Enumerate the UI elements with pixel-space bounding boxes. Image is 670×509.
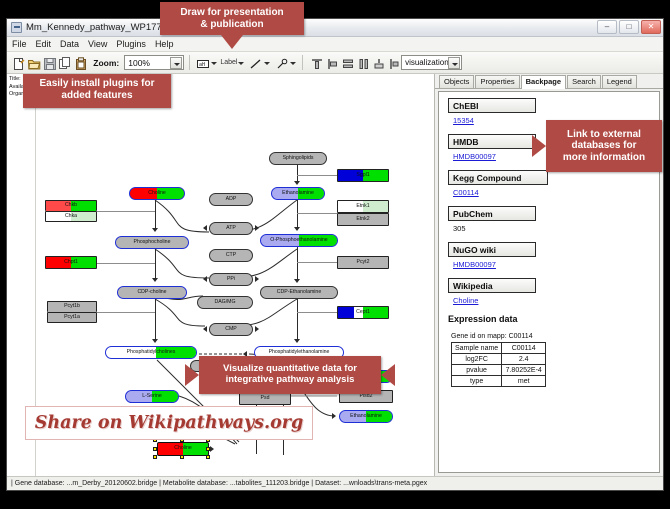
align-top-icon[interactable] bbox=[308, 55, 321, 71]
stack-icon[interactable] bbox=[370, 55, 383, 71]
db-link-wikipedia[interactable]: Choline bbox=[453, 296, 659, 305]
node-atp[interactable]: ATP bbox=[209, 222, 253, 235]
node-cmp[interactable]: CMP bbox=[209, 323, 253, 336]
menu-item-file[interactable]: File bbox=[12, 39, 27, 49]
arrow-icon bbox=[294, 181, 300, 185]
node-label: CDP-Ethanolamine bbox=[277, 290, 321, 295]
db-value-pubchem: 305 bbox=[453, 224, 659, 233]
line-dropdown[interactable] bbox=[247, 55, 271, 71]
chevron-down-icon[interactable] bbox=[210, 55, 218, 71]
gene-id-line: Gene id on mapp: C00114 bbox=[451, 333, 659, 340]
db-header-pubchem: PubChem bbox=[448, 206, 536, 221]
db-header-kegg: Kegg Compound bbox=[448, 170, 548, 185]
node-label: Chpt1 bbox=[64, 260, 78, 265]
toolbar-separator bbox=[189, 55, 190, 70]
application-window: Mm_Kennedy_pathway_WP1771_45176.gpml – □… bbox=[6, 18, 664, 491]
close-button[interactable]: ✕ bbox=[641, 20, 661, 34]
node-label: CDP-choline bbox=[137, 290, 166, 295]
node-label: ATP bbox=[226, 226, 236, 231]
chevron-down-icon[interactable] bbox=[448, 57, 460, 69]
selection-handle[interactable] bbox=[180, 455, 184, 459]
callout-plugins: Easily install plugins for added feature… bbox=[23, 74, 171, 108]
expression-half-down bbox=[338, 307, 354, 318]
node-label: Chka bbox=[65, 214, 77, 219]
node-label: ADP bbox=[226, 197, 237, 202]
gene-chka[interactable]: Chka bbox=[45, 211, 97, 222]
gene-link-line bbox=[297, 175, 337, 176]
table-cell-value: 7.80252E-4 bbox=[502, 365, 546, 376]
table-cell-key: type bbox=[452, 376, 502, 387]
gene-chkb[interactable]: Chkb bbox=[45, 200, 97, 211]
node-ppi[interactable]: PPi bbox=[209, 273, 253, 286]
node-l-serine-left[interactable]: L-Serine bbox=[125, 390, 179, 403]
arrow-icon bbox=[255, 276, 259, 282]
gene-chpt1[interactable]: Chpt1 bbox=[45, 256, 97, 269]
visualization-value: visualization bbox=[402, 58, 449, 67]
table-cell-key: log2FC bbox=[452, 354, 502, 365]
status-bar-text: | Gene database: ...m_Derby_20120602.bri… bbox=[11, 480, 427, 487]
node-adp[interactable]: ADP bbox=[209, 193, 253, 206]
callout-plugins-text: Easily install plugins for added feature… bbox=[39, 78, 154, 101]
menu-item-help[interactable]: Help bbox=[155, 39, 174, 49]
node-label: Choline bbox=[148, 191, 166, 196]
callout-draw: Draw for presentation & publication bbox=[160, 2, 304, 35]
tab-legend[interactable]: Legend bbox=[602, 75, 637, 88]
node-label: Phosphatidylethanolamine bbox=[269, 350, 330, 355]
datanode-icon[interactable]: aH bbox=[194, 55, 210, 71]
gene-etnk2[interactable]: Etnk2 bbox=[337, 213, 389, 226]
line-icon[interactable] bbox=[247, 55, 263, 71]
zoom-combobox[interactable]: 100% bbox=[124, 55, 183, 70]
node-label: Sphingolipids bbox=[283, 156, 314, 161]
copy-icon[interactable] bbox=[56, 55, 69, 71]
node-label: Cept1 bbox=[356, 310, 370, 315]
tab-backpage[interactable]: Backpage bbox=[521, 75, 566, 89]
table-cell-key: Sample name bbox=[452, 343, 502, 354]
menu-item-data[interactable]: Data bbox=[60, 39, 79, 49]
table-row: Sample name C00114 bbox=[452, 343, 546, 354]
datanode-dropdown[interactable]: aH bbox=[194, 55, 218, 71]
open-folder-icon[interactable] bbox=[25, 55, 38, 71]
callout-visualize-pointer-right bbox=[381, 364, 395, 386]
arrow-icon bbox=[203, 225, 207, 231]
menu-bar: File Edit Data View Plugins Help bbox=[7, 37, 663, 52]
node-label: Chkb bbox=[65, 203, 77, 208]
title-bar: Mm_Kennedy_pathway_WP1771_45176.gpml – □… bbox=[7, 19, 663, 37]
node-label: Pisd2 bbox=[360, 394, 373, 399]
db-header-wikipedia: Wikipedia bbox=[448, 278, 536, 293]
selection-handle[interactable] bbox=[206, 447, 210, 451]
callout-draw-pointer bbox=[221, 35, 243, 49]
node-label: CMP bbox=[225, 327, 237, 332]
gene-etnk1[interactable]: Etnk1 bbox=[337, 200, 389, 213]
align-left-icon[interactable] bbox=[324, 55, 337, 71]
node-label: Etnk1 bbox=[356, 204, 369, 209]
expression-table: Sample name C00114 log2FC 2.4 pvalue 7.8… bbox=[451, 342, 546, 387]
arrow-icon bbox=[203, 276, 207, 282]
db-header-chebi: ChEBI bbox=[448, 98, 536, 113]
chevron-down-icon[interactable] bbox=[289, 55, 297, 71]
toolbar: Zoom: 100% aH Label bbox=[7, 52, 663, 74]
gene-cept1[interactable]: Cept1 bbox=[337, 306, 389, 319]
label-dropdown[interactable]: Label bbox=[220, 55, 245, 71]
node-label: Phosphatidylcholines bbox=[127, 350, 176, 355]
node-label: Etnk2 bbox=[356, 217, 369, 222]
gene-pcyt1b[interactable]: Pcyt1b bbox=[47, 301, 97, 312]
new-file-icon[interactable] bbox=[10, 55, 23, 71]
node-cdp-ethanolamine[interactable]: CDP-Ethanolamine bbox=[260, 286, 338, 299]
db-link-kegg[interactable]: C00114 bbox=[453, 188, 659, 197]
status-bar: | Gene database: ...m_Derby_20120602.bri… bbox=[7, 476, 663, 490]
node-label: DAG/MG bbox=[214, 300, 235, 305]
tab-search[interactable]: Search bbox=[567, 75, 601, 88]
callout-links-text: Link to external databases for more info… bbox=[563, 129, 645, 164]
selection-handle[interactable] bbox=[206, 455, 210, 459]
align-rows-icon[interactable] bbox=[339, 55, 352, 71]
node-ethanolamine-right[interactable]: Ethanolamine bbox=[339, 410, 393, 423]
callout-visualize-text: Visualize quantitative data for integrat… bbox=[223, 364, 357, 386]
menu-item-plugins[interactable]: Plugins bbox=[116, 39, 146, 49]
callout-links: Link to external databases for more info… bbox=[546, 120, 662, 172]
node-label: CTP bbox=[226, 253, 236, 258]
sidebar-tabs: Objects Properties Backpage Search Legen… bbox=[435, 74, 663, 89]
callout-draw-text: Draw for presentation & publication bbox=[180, 7, 283, 30]
svg-text:aH: aH bbox=[199, 62, 205, 68]
node-label: PPi bbox=[227, 277, 235, 282]
paste-icon[interactable] bbox=[72, 55, 85, 71]
node-label: Phosphocholine bbox=[134, 240, 171, 245]
node-label: Psd bbox=[261, 396, 270, 401]
node-label: L-Serine bbox=[142, 394, 162, 399]
callout-visualize: Visualize quantitative data for integrat… bbox=[199, 356, 381, 394]
callout-links-pointer bbox=[532, 135, 546, 157]
db-link-nugowiki[interactable]: HMDB00097 bbox=[453, 260, 659, 269]
zoom-value: 100% bbox=[125, 58, 150, 68]
table-row: type met bbox=[452, 376, 546, 387]
visualization-combobox[interactable]: visualization bbox=[401, 55, 462, 70]
share-banner: Share on Wikipathways.org bbox=[25, 406, 313, 440]
node-phosphocholine[interactable]: Phosphocholine bbox=[115, 236, 189, 249]
arrow-icon bbox=[203, 326, 207, 332]
share-banner-text: Share on Wikipathways.org bbox=[35, 413, 303, 433]
node-label: Ethanolamine bbox=[282, 191, 314, 196]
tab-objects[interactable]: Objects bbox=[439, 75, 474, 88]
node-label: Pcyt1a bbox=[64, 315, 80, 320]
window-controls[interactable]: – □ ✕ bbox=[597, 20, 661, 34]
node-label: Sgpl1 bbox=[356, 173, 369, 178]
pathway-canvas-panel[interactable]: Title: Availa Organ bbox=[7, 74, 435, 476]
node-label: Pcyt2 bbox=[357, 260, 370, 265]
selection-handle[interactable] bbox=[153, 455, 157, 459]
table-row: pvalue 7.80252E-4 bbox=[452, 365, 546, 376]
receptor-dropdown[interactable] bbox=[273, 55, 297, 71]
node-label: Ethanolamine bbox=[350, 414, 382, 419]
table-row: log2FC 2.4 bbox=[452, 354, 546, 365]
node-choline-selected[interactable]: Choline bbox=[157, 442, 209, 456]
save-icon[interactable] bbox=[41, 55, 54, 71]
toolbar-separator bbox=[302, 55, 303, 70]
gene-pcyt1a[interactable]: Pcyt1a bbox=[47, 312, 97, 323]
node-label: Pcyt1b bbox=[64, 304, 80, 309]
tab-properties[interactable]: Properties bbox=[475, 75, 519, 88]
chevron-down-icon[interactable] bbox=[170, 57, 182, 69]
zoom-label: Zoom: bbox=[93, 58, 119, 68]
node-label: Choline bbox=[174, 446, 192, 451]
node-ethanolamine[interactable]: Ethanolamine bbox=[271, 187, 325, 200]
node-phosphatidylcholines[interactable]: Phosphatidylcholines bbox=[105, 346, 197, 359]
arrow-icon bbox=[255, 225, 259, 231]
table-cell-key: pvalue bbox=[452, 365, 502, 376]
node-dag-mg[interactable]: DAG/MG bbox=[197, 296, 253, 309]
label-button-text: Label bbox=[220, 59, 237, 66]
node-label: O-Phosphoethanolamine bbox=[270, 238, 327, 243]
arrow-icon bbox=[255, 326, 259, 332]
node-cdp-choline[interactable]: CDP-choline bbox=[117, 286, 187, 299]
table-cell-value: 2.4 bbox=[502, 354, 546, 365]
db-header-nugowiki: NuGO wiki bbox=[448, 242, 536, 257]
node-choline[interactable]: Choline bbox=[129, 187, 185, 200]
callout-visualize-pointer-left bbox=[185, 364, 199, 386]
node-ctp[interactable]: CTP bbox=[209, 249, 253, 262]
desktop-background: Mm_Kennedy_pathway_WP1771_45176.gpml – □… bbox=[0, 0, 670, 509]
app-icon bbox=[11, 22, 22, 33]
gene-sgpl1[interactable]: Sgpl1 bbox=[337, 169, 389, 182]
table-cell-value: C00114 bbox=[502, 343, 546, 354]
gene-pcyt2[interactable]: Pcyt2 bbox=[337, 256, 389, 269]
chevron-down-icon[interactable] bbox=[263, 55, 271, 71]
expression-data-title: Expression data bbox=[448, 314, 659, 324]
cofactor-arcs bbox=[147, 192, 317, 342]
table-cell-value: met bbox=[502, 376, 546, 387]
node-sphingolipids[interactable]: Sphingolipids bbox=[269, 152, 327, 165]
align-columns-icon[interactable] bbox=[355, 55, 368, 71]
selection-handle[interactable] bbox=[153, 447, 157, 451]
menu-item-edit[interactable]: Edit bbox=[36, 39, 52, 49]
minimize-button[interactable]: – bbox=[597, 20, 617, 34]
order-icon[interactable] bbox=[386, 55, 399, 71]
node-o-phosphoethanolamine[interactable]: O-Phosphoethanolamine bbox=[260, 234, 338, 247]
receptor-icon[interactable] bbox=[273, 55, 289, 71]
arrow-icon bbox=[332, 413, 336, 419]
arrow-icon bbox=[210, 446, 214, 452]
chevron-down-icon[interactable] bbox=[237, 55, 245, 71]
db-header-hmdb: HMDB bbox=[448, 134, 536, 149]
maximize-button[interactable]: □ bbox=[619, 20, 639, 34]
menu-item-view[interactable]: View bbox=[88, 39, 107, 49]
